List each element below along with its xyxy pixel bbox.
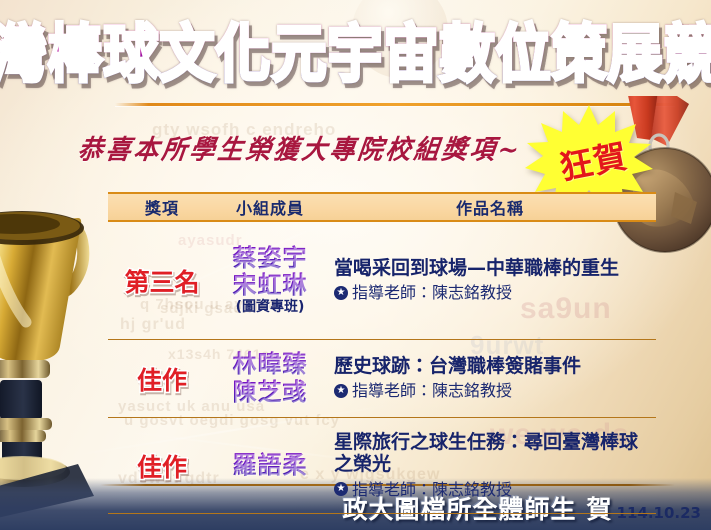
members-cell: 羅語柔 xyxy=(216,452,324,479)
award-label: 佳作 xyxy=(108,448,216,484)
members-cell: 蔡姿宇 宋虹琳 (圖資專班) xyxy=(216,245,324,317)
starburst-icon: 狂賀 xyxy=(523,104,655,204)
work-cell: 歷史球跡：台灣職棒簽賭事件 ★ 指導老師：陳志銘教授 xyxy=(324,350,656,407)
subtitle: 恭喜本所學生榮獲大專院校組獎項~ xyxy=(76,129,525,167)
column-header-work: 作品名稱 xyxy=(324,195,656,219)
table-row[interactable]: 第三名 蔡姿宇 宋虹琳 (圖資專班) 當喝采回到球場—中華職棒的重生 ★ 指導老… xyxy=(108,222,656,340)
work-cell: 星際旅行之球生任務：尋回臺灣棒球之榮光 ★ 指導老師：陳志銘教授 xyxy=(324,426,656,505)
title-container: 台灣棒球文化元宇宙數位策展競賽 xyxy=(0,8,711,100)
award-label: 第三名 xyxy=(108,263,216,299)
trophy-icon xyxy=(0,196,122,526)
members-cell: 林暐臻 陳芝彧 xyxy=(216,351,324,406)
table-row[interactable]: 佳作 林暐臻 陳芝彧 歷史球跡：台灣職棒簽賭事件 ★ 指導老師：陳志銘教授 xyxy=(108,340,656,418)
star-bullet-icon: ★ xyxy=(334,482,348,496)
member-note: (圖資專班) xyxy=(216,300,324,316)
advisor-line: ★ 指導老師：陳志銘教授 xyxy=(334,282,656,304)
poster-canvas: gty wsofh c endreho ayasudr q 7hsou u ay… xyxy=(0,0,711,530)
work-cell: 當喝采回到球場—中華職棒的重生 ★ 指導老師：陳志銘教授 xyxy=(324,252,656,309)
star-bullet-icon: ★ xyxy=(334,286,348,300)
member-name: 蔡姿宇 xyxy=(216,245,324,272)
advisor-text: 指導老師：陳志銘教授 xyxy=(352,479,512,501)
member-name: 羅語柔 xyxy=(216,452,324,479)
member-name: 林暐臻 xyxy=(216,351,324,378)
table-header-row: 獎項 小組成員 作品名稱 xyxy=(108,192,656,222)
advisor-line: ★ 指導老師：陳志銘教授 xyxy=(334,380,656,402)
advisor-text: 指導老師：陳志銘教授 xyxy=(352,282,512,304)
member-name: 陳芝彧 xyxy=(216,379,324,406)
work-title: 當喝采回到球場—中華職棒的重生 xyxy=(334,257,656,279)
advisor-line: ★ 指導老師：陳志銘教授 xyxy=(334,479,656,501)
member-name: 宋虹琳 xyxy=(216,272,324,299)
column-header-award: 獎項 xyxy=(108,195,216,219)
advisor-text: 指導老師：陳志銘教授 xyxy=(352,380,512,402)
work-title: 歷史球跡：台灣職棒簽賭事件 xyxy=(334,355,656,377)
work-title: 星際旅行之球生任務：尋回臺灣棒球之榮光 xyxy=(334,431,656,476)
table-row[interactable]: 佳作 羅語柔 星際旅行之球生任務：尋回臺灣棒球之榮光 ★ 指導老師：陳志銘教授 xyxy=(108,418,656,514)
awards-table: 獎項 小組成員 作品名稱 第三名 蔡姿宇 宋虹琳 (圖資專班) 當喝采回到球場—… xyxy=(108,192,656,514)
star-bullet-icon: ★ xyxy=(334,384,348,398)
page-title: 台灣棒球文化元宇宙數位策展競賽 xyxy=(0,23,711,86)
award-label: 佳作 xyxy=(108,361,216,397)
column-header-members: 小組成員 xyxy=(216,195,324,219)
